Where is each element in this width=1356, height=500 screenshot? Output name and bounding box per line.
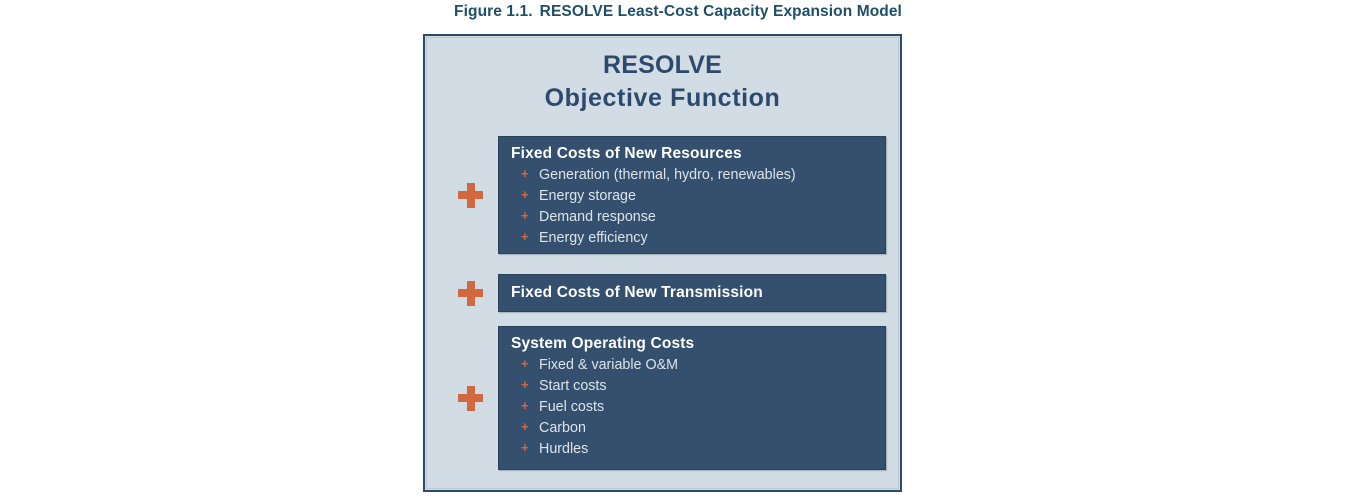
bullet-plus-icon: + (521, 167, 539, 180)
cost-group-fixed-costs-new-transmission: Fixed Costs of New Transmission (443, 274, 886, 312)
cost-box-title: Fixed Costs of New Transmission (511, 282, 763, 304)
list-item: + Start costs (521, 376, 885, 397)
list-item-label: Carbon (539, 418, 586, 439)
list-item-label: Energy storage (539, 186, 636, 207)
list-item: + Energy storage (521, 186, 885, 207)
list-item: + Fixed & variable O&M (521, 355, 885, 376)
figure-title: RESOLVE Least-Cost Capacity Expansion Mo… (540, 3, 902, 20)
resolve-objective-function-diagram: RESOLVE Objective Function Fixed Costs o… (423, 34, 902, 492)
cost-group-system-operating-costs: System Operating Costs + Fixed & variabl… (443, 326, 886, 470)
list-item-label: Energy efficiency (539, 228, 648, 249)
plus-operator-1 (443, 183, 498, 208)
list-item-label: Hurdles (539, 439, 588, 460)
bullet-plus-icon: + (521, 420, 539, 433)
cost-group-fixed-costs-new-resources: Fixed Costs of New Resources + Generatio… (443, 136, 886, 254)
list-item: + Fuel costs (521, 397, 885, 418)
list-item-label: Start costs (539, 376, 607, 397)
list-item-label: Fuel costs (539, 397, 604, 418)
cost-box-system-operating-costs: System Operating Costs + Fixed & variabl… (498, 326, 886, 470)
plus-operator-3 (443, 386, 498, 411)
bullet-plus-icon: + (521, 357, 539, 370)
cost-box-title: Fixed Costs of New Resources (511, 143, 885, 165)
list-item-label: Fixed & variable O&M (539, 355, 678, 376)
bullet-plus-icon: + (521, 188, 539, 201)
cost-item-list: + Generation (thermal, hydro, renewables… (511, 165, 885, 250)
list-item: + Demand response (521, 207, 885, 228)
bullet-plus-icon: + (521, 378, 539, 391)
cost-box-title: System Operating Costs (511, 333, 885, 355)
bullet-plus-icon: + (521, 230, 539, 243)
cost-box-fixed-costs-new-transmission: Fixed Costs of New Transmission (498, 274, 886, 312)
figure-caption: Figure 1.1.RESOLVE Least-Cost Capacity E… (0, 3, 1356, 21)
plus-icon (458, 183, 483, 208)
list-item: + Carbon (521, 418, 885, 439)
bullet-plus-icon: + (521, 209, 539, 222)
plus-operator-2 (443, 281, 498, 306)
plus-icon (458, 386, 483, 411)
list-item: + Generation (thermal, hydro, renewables… (521, 165, 885, 186)
cost-box-fixed-costs-new-resources: Fixed Costs of New Resources + Generatio… (498, 136, 886, 254)
bullet-plus-icon: + (521, 441, 539, 454)
list-item-label: Generation (thermal, hydro, renewables) (539, 165, 796, 186)
list-item-label: Demand response (539, 207, 656, 228)
diagram-heading-line-2: Objective Function (425, 82, 900, 115)
bullet-plus-icon: + (521, 399, 539, 412)
list-item: + Hurdles (521, 439, 885, 460)
diagram-heading-line-1: RESOLVE (425, 49, 900, 82)
diagram-heading: RESOLVE Objective Function (425, 49, 900, 116)
list-item: + Energy efficiency (521, 228, 885, 249)
cost-item-list: + Fixed & variable O&M + Start costs + F… (511, 355, 885, 461)
plus-icon (458, 281, 483, 306)
figure-number: Figure 1.1. (454, 3, 533, 20)
